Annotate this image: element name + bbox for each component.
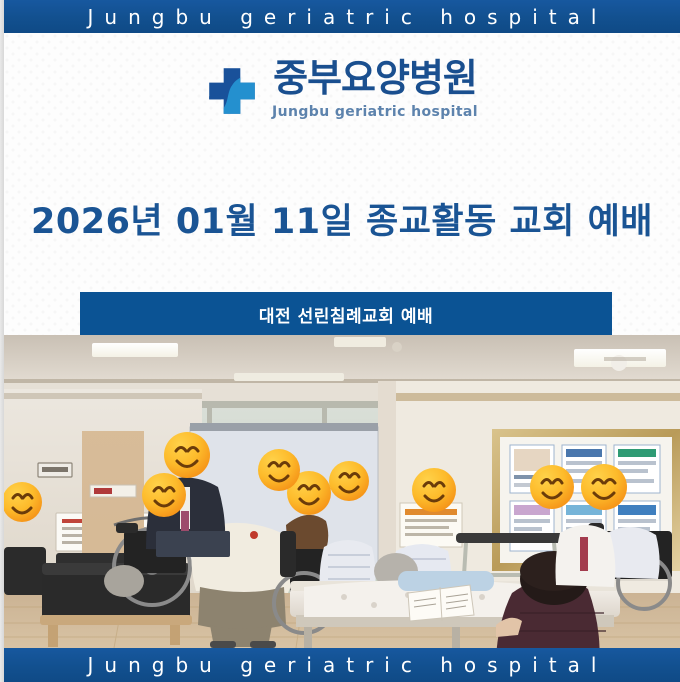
hospital-logo: 중부요양병원 Jungbu geriatric hospital	[4, 59, 680, 120]
bottom-ribbon: Jungbu geriatric hospital	[4, 648, 680, 682]
church-name-banner-text: 대전 선린침례교회 예배	[259, 302, 433, 327]
medical-cross-swoosh-icon	[206, 65, 258, 117]
event-title: 2026년 01월 11일 종교활동 교회 예배	[4, 193, 680, 244]
church-name-banner: 대전 선린침례교회 예배	[80, 292, 612, 336]
top-ribbon-text: Jungbu geriatric hospital	[77, 5, 608, 29]
event-photo	[4, 335, 680, 648]
logo-korean-name: 중부요양병원	[273, 59, 477, 99]
header-panel: 중부요양병원 Jungbu geriatric hospital 2026년 0…	[4, 33, 680, 335]
logo-wordmark: 중부요양병원 Jungbu geriatric hospital	[272, 59, 478, 120]
promo-card: Jungbu geriatric hospital	[0, 0, 680, 682]
logo-english-name: Jungbu geriatric hospital	[272, 104, 478, 120]
top-ribbon: Jungbu geriatric hospital	[4, 0, 680, 33]
bottom-ribbon-text: Jungbu geriatric hospital	[77, 653, 608, 677]
